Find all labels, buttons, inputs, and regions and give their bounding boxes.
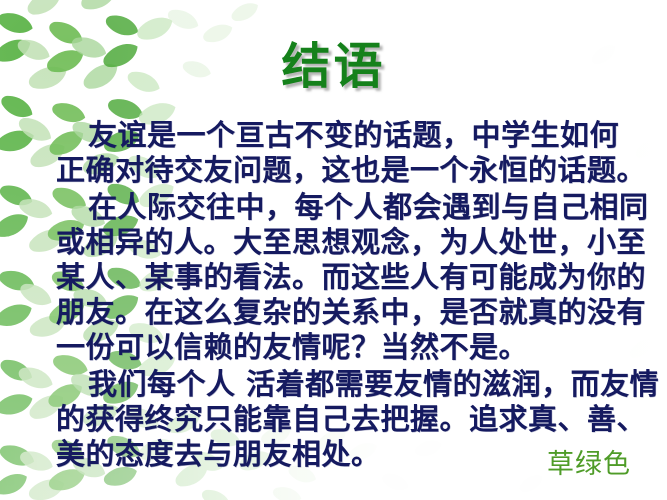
body-line: 的获得终究只能靠自己去把握。追求真、善、 xyxy=(56,402,636,437)
body-line: 或相异的人。大至思想观念，为人处世，小至 xyxy=(56,225,636,260)
body-line: 某人、某事的看法。而这些人有可能成为你的 xyxy=(56,260,636,295)
body-line: 友谊是一个亘古不变的话题，中学生如何 xyxy=(56,118,636,153)
body-line: 朋友。在这么复杂的关系中，是否就真的没有 xyxy=(56,295,636,330)
body-paragraph-2: 在人际交往中，每个人都会遇到与自己相同 或相异的人。大至思想观念，为人处世，小至… xyxy=(56,190,636,365)
signature-label: 草绿色 xyxy=(547,450,631,480)
body-paragraph-1: 友谊是一个亘古不变的话题，中学生如何 正确对待交友问题，这也是一个永恒的话题。 xyxy=(56,118,636,188)
presentation-slide: 结语 友谊是一个亘古不变的话题，中学生如何 正确对待交友问题，这也是一个永恒的话… xyxy=(0,0,667,500)
body-line: 在人际交往中，每个人都会遇到与自己相同 xyxy=(56,190,636,225)
body-line: 一份可以信赖的友情呢？当然不是。 xyxy=(56,330,636,365)
slide-title: 结语 xyxy=(0,41,667,93)
body-line: 我们每个人 活着都需要友情的滋润，而友情 xyxy=(56,367,636,402)
slide-body-text: 友谊是一个亘古不变的话题，中学生如何 正确对待交友问题，这也是一个永恒的话题。 … xyxy=(56,118,636,472)
body-line: 正确对待交友问题，这也是一个永恒的话题。 xyxy=(56,153,636,188)
